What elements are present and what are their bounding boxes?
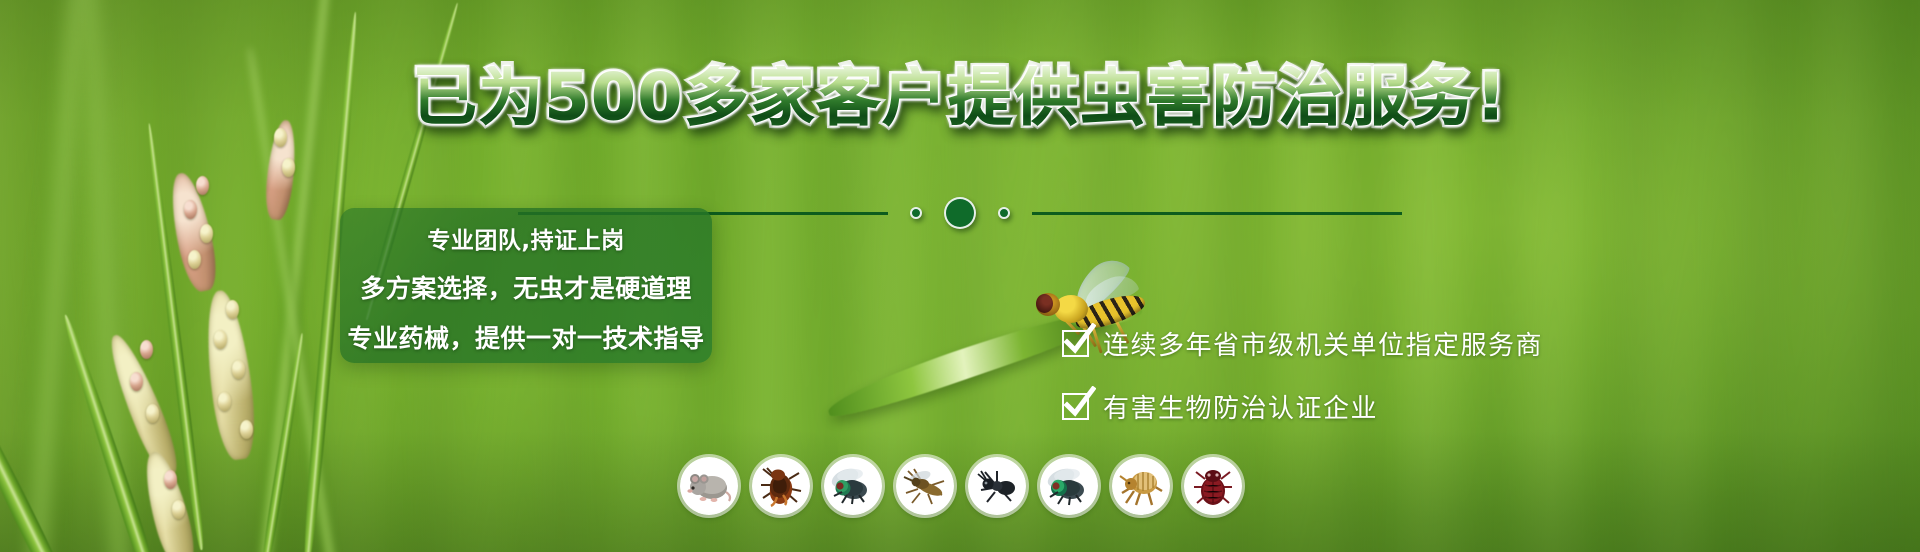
checkbox-checked-icon	[1062, 393, 1089, 420]
features-card-line-1: 专业团队,持证上岗	[340, 221, 712, 255]
checklist-item: 连续多年省市级机关单位指定服务商	[1062, 325, 1543, 362]
checklist-item-label: 有害生物防治认证企业	[1103, 388, 1378, 425]
pest-icon-flea[interactable]	[1112, 457, 1170, 515]
pest-control-banner: 已为500多家客户提供虫害防治服务! 已为500多家客户提供虫害防治服务! 专业…	[0, 0, 1920, 552]
divider-dot-large	[944, 197, 976, 229]
divider-dot-small-left	[910, 207, 922, 219]
pest-icon-fly[interactable]	[824, 457, 882, 515]
pest-icon-mouse[interactable]	[680, 457, 738, 515]
features-card-line-2: 多方案选择，无虫才是硬道理	[340, 269, 712, 305]
pest-icon-bedbug[interactable]	[1184, 457, 1242, 515]
page-title: 已为500多家客户提供虫害防治服务!	[0, 66, 1920, 130]
checklist-item-label: 连续多年省市级机关单位指定服务商	[1103, 325, 1543, 362]
credentials-checklist: 连续多年省市级机关单位指定服务商 有害生物防治认证企业	[1062, 325, 1543, 425]
divider-dot-small-right	[998, 207, 1010, 219]
pest-icon-mosquito[interactable]	[896, 457, 954, 515]
pest-types-strip	[680, 457, 1242, 515]
divider	[0, 197, 1920, 229]
features-card: 专业团队,持证上岗 多方案选择，无虫才是硬道理 专业药械，提供一对一技术指导	[340, 208, 712, 363]
hoverfly-eye	[1036, 294, 1053, 313]
checkbox-checked-icon	[1062, 330, 1089, 357]
divider-rule-right	[1032, 212, 1402, 215]
checklist-item: 有害生物防治认证企业	[1062, 388, 1543, 425]
pest-icon-cockroach[interactable]	[752, 457, 810, 515]
features-card-line-3: 专业药械，提供一对一技术指导	[340, 319, 712, 355]
pest-icon-fly-green[interactable]	[1040, 457, 1098, 515]
pest-icon-ant[interactable]	[968, 457, 1026, 515]
